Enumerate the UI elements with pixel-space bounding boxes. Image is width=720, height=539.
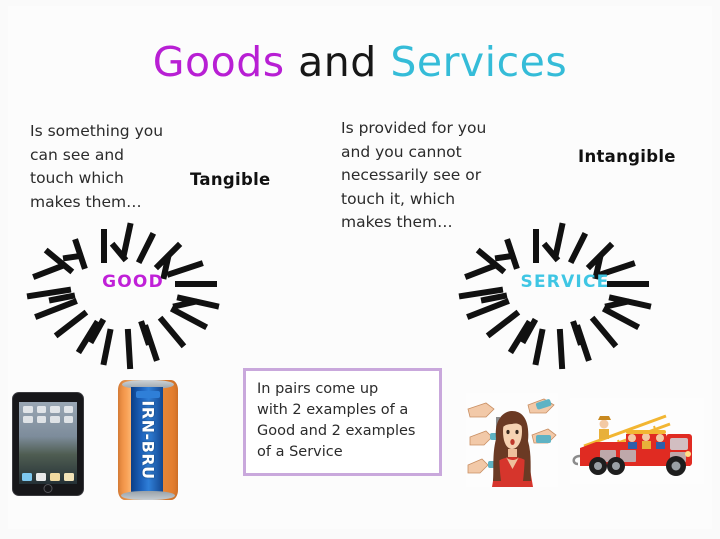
task-instruction-text: In pairs come up with 2 examples of a Go… xyxy=(257,379,429,463)
page-title: Goods and Services xyxy=(0,38,720,86)
keyword-intangible: Intangible xyxy=(578,147,676,166)
slide-canvas: Goods and Services Is something you can … xyxy=(0,0,720,539)
tablet-screen xyxy=(19,402,77,484)
keyword-tangible: Tangible xyxy=(190,170,271,189)
good-burst-label: GOOD xyxy=(18,272,248,292)
starburst-spikes-icon xyxy=(450,222,680,372)
task-instruction-box: In pairs come up with 2 examples of a Go… xyxy=(243,368,442,476)
starburst-spikes-icon xyxy=(18,222,248,372)
fire-engine-image xyxy=(570,398,704,484)
salon-scene xyxy=(466,393,558,487)
tablet-computer-image xyxy=(12,392,84,496)
service-starburst: SERVICE xyxy=(450,222,680,372)
good-definition-text: Is something you can see and touch which… xyxy=(30,120,220,214)
irn-bru-can-image: IRN-BRU xyxy=(118,380,178,500)
can-brand-cap xyxy=(136,391,160,398)
service-definition-text: Is provided for you and you cannot neces… xyxy=(341,117,556,235)
service-burst-label: SERVICE xyxy=(450,272,680,292)
tablet-frame xyxy=(12,392,84,496)
title-word-goods: Goods xyxy=(153,38,298,86)
can-logo-text: IRN-BRU xyxy=(139,400,158,479)
good-starburst: GOOD xyxy=(18,222,248,372)
fire-engine-scene xyxy=(570,398,704,484)
title-word-services: Services xyxy=(390,38,567,86)
can-body: IRN-BRU xyxy=(118,380,178,500)
tablet-dock xyxy=(22,473,74,481)
title-word-and: and xyxy=(298,38,390,86)
hairdressing-image xyxy=(466,393,558,487)
tablet-home-button xyxy=(44,484,53,493)
tablet-app-grid xyxy=(23,406,73,423)
can-bottom xyxy=(121,491,175,500)
